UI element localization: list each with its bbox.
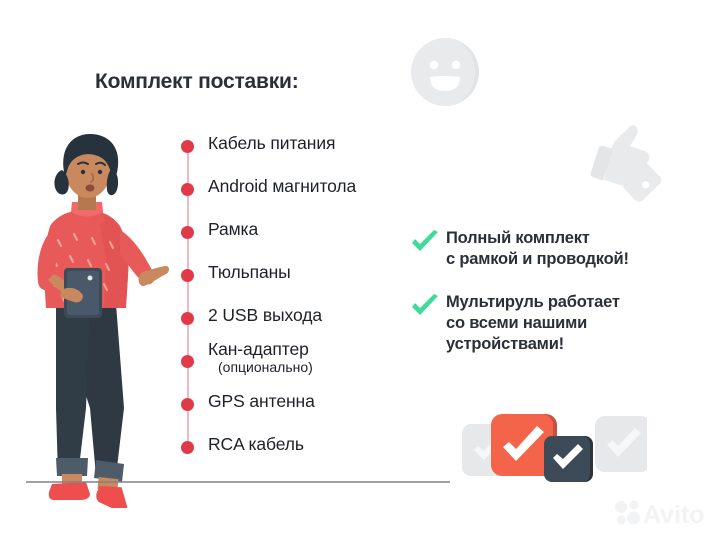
bullet-dot-icon bbox=[181, 269, 194, 282]
page-title: Комплект поставки: bbox=[95, 70, 299, 94]
avito-dots-logo bbox=[615, 501, 640, 525]
list-item-label: GPS антенна bbox=[208, 391, 315, 412]
benefit-text: Полный комплект с рамкой и проводкой! bbox=[446, 228, 710, 270]
checkbox-cards-group bbox=[462, 410, 647, 488]
benefit-line: со всеми нашими bbox=[446, 313, 710, 334]
green-check-icon bbox=[410, 294, 440, 320]
benefits-list: Полный комплект с рамкой и проводкой! Му… bbox=[410, 228, 710, 372]
list-item-label: Android магнитола bbox=[208, 176, 356, 197]
benefit-line: Мультируль работает bbox=[446, 292, 710, 313]
list-item-label: 2 USB выхода bbox=[208, 305, 322, 326]
ground-line bbox=[26, 481, 450, 483]
bullet-dot-icon bbox=[181, 398, 194, 411]
bullet-dot-icon bbox=[181, 183, 194, 196]
list-item-label: Рамка bbox=[208, 219, 258, 240]
list-item-label: Кабель питания bbox=[208, 133, 335, 154]
bullet-dot-icon bbox=[181, 441, 194, 454]
smiley-face-icon bbox=[408, 35, 482, 109]
list-item-note: (опционально) bbox=[218, 359, 313, 375]
avito-wordmark: Avito bbox=[643, 501, 705, 528]
benefit-line: устройствами! bbox=[446, 334, 710, 355]
checkbox-card-gray-right bbox=[595, 416, 647, 472]
benefit-line: с рамкой и проводкой! bbox=[446, 249, 710, 270]
bullet-dot-icon bbox=[181, 312, 194, 325]
thumbs-up-icon bbox=[578, 115, 670, 207]
avito-watermark: Avito bbox=[614, 498, 712, 528]
list-item-label: Кан-адаптер bbox=[208, 339, 309, 360]
benefit-text: Мультируль работает со всеми нашими устр… bbox=[446, 292, 710, 355]
benefit-item: Полный комплект с рамкой и проводкой! bbox=[410, 228, 710, 270]
advertisement-image: Комплект поставки: Кабель питания Androi… bbox=[0, 0, 720, 540]
woman-pointing-illustration bbox=[12, 108, 172, 508]
list-item-label: RCA кабель bbox=[208, 434, 304, 455]
checkbox-card-navy bbox=[544, 436, 593, 482]
bullet-dot-icon bbox=[181, 140, 194, 153]
package-contents-list: Кабель питания Android магнитола Рамка Т… bbox=[178, 132, 408, 462]
list-item-label: Тюльпаны bbox=[208, 262, 291, 283]
bullet-dot-icon bbox=[181, 226, 194, 239]
bullet-dot-icon bbox=[181, 355, 194, 368]
benefit-line: Полный комплект bbox=[446, 228, 710, 249]
green-check-icon bbox=[410, 230, 440, 256]
benefit-item: Мультируль работает со всеми нашими устр… bbox=[410, 292, 710, 355]
